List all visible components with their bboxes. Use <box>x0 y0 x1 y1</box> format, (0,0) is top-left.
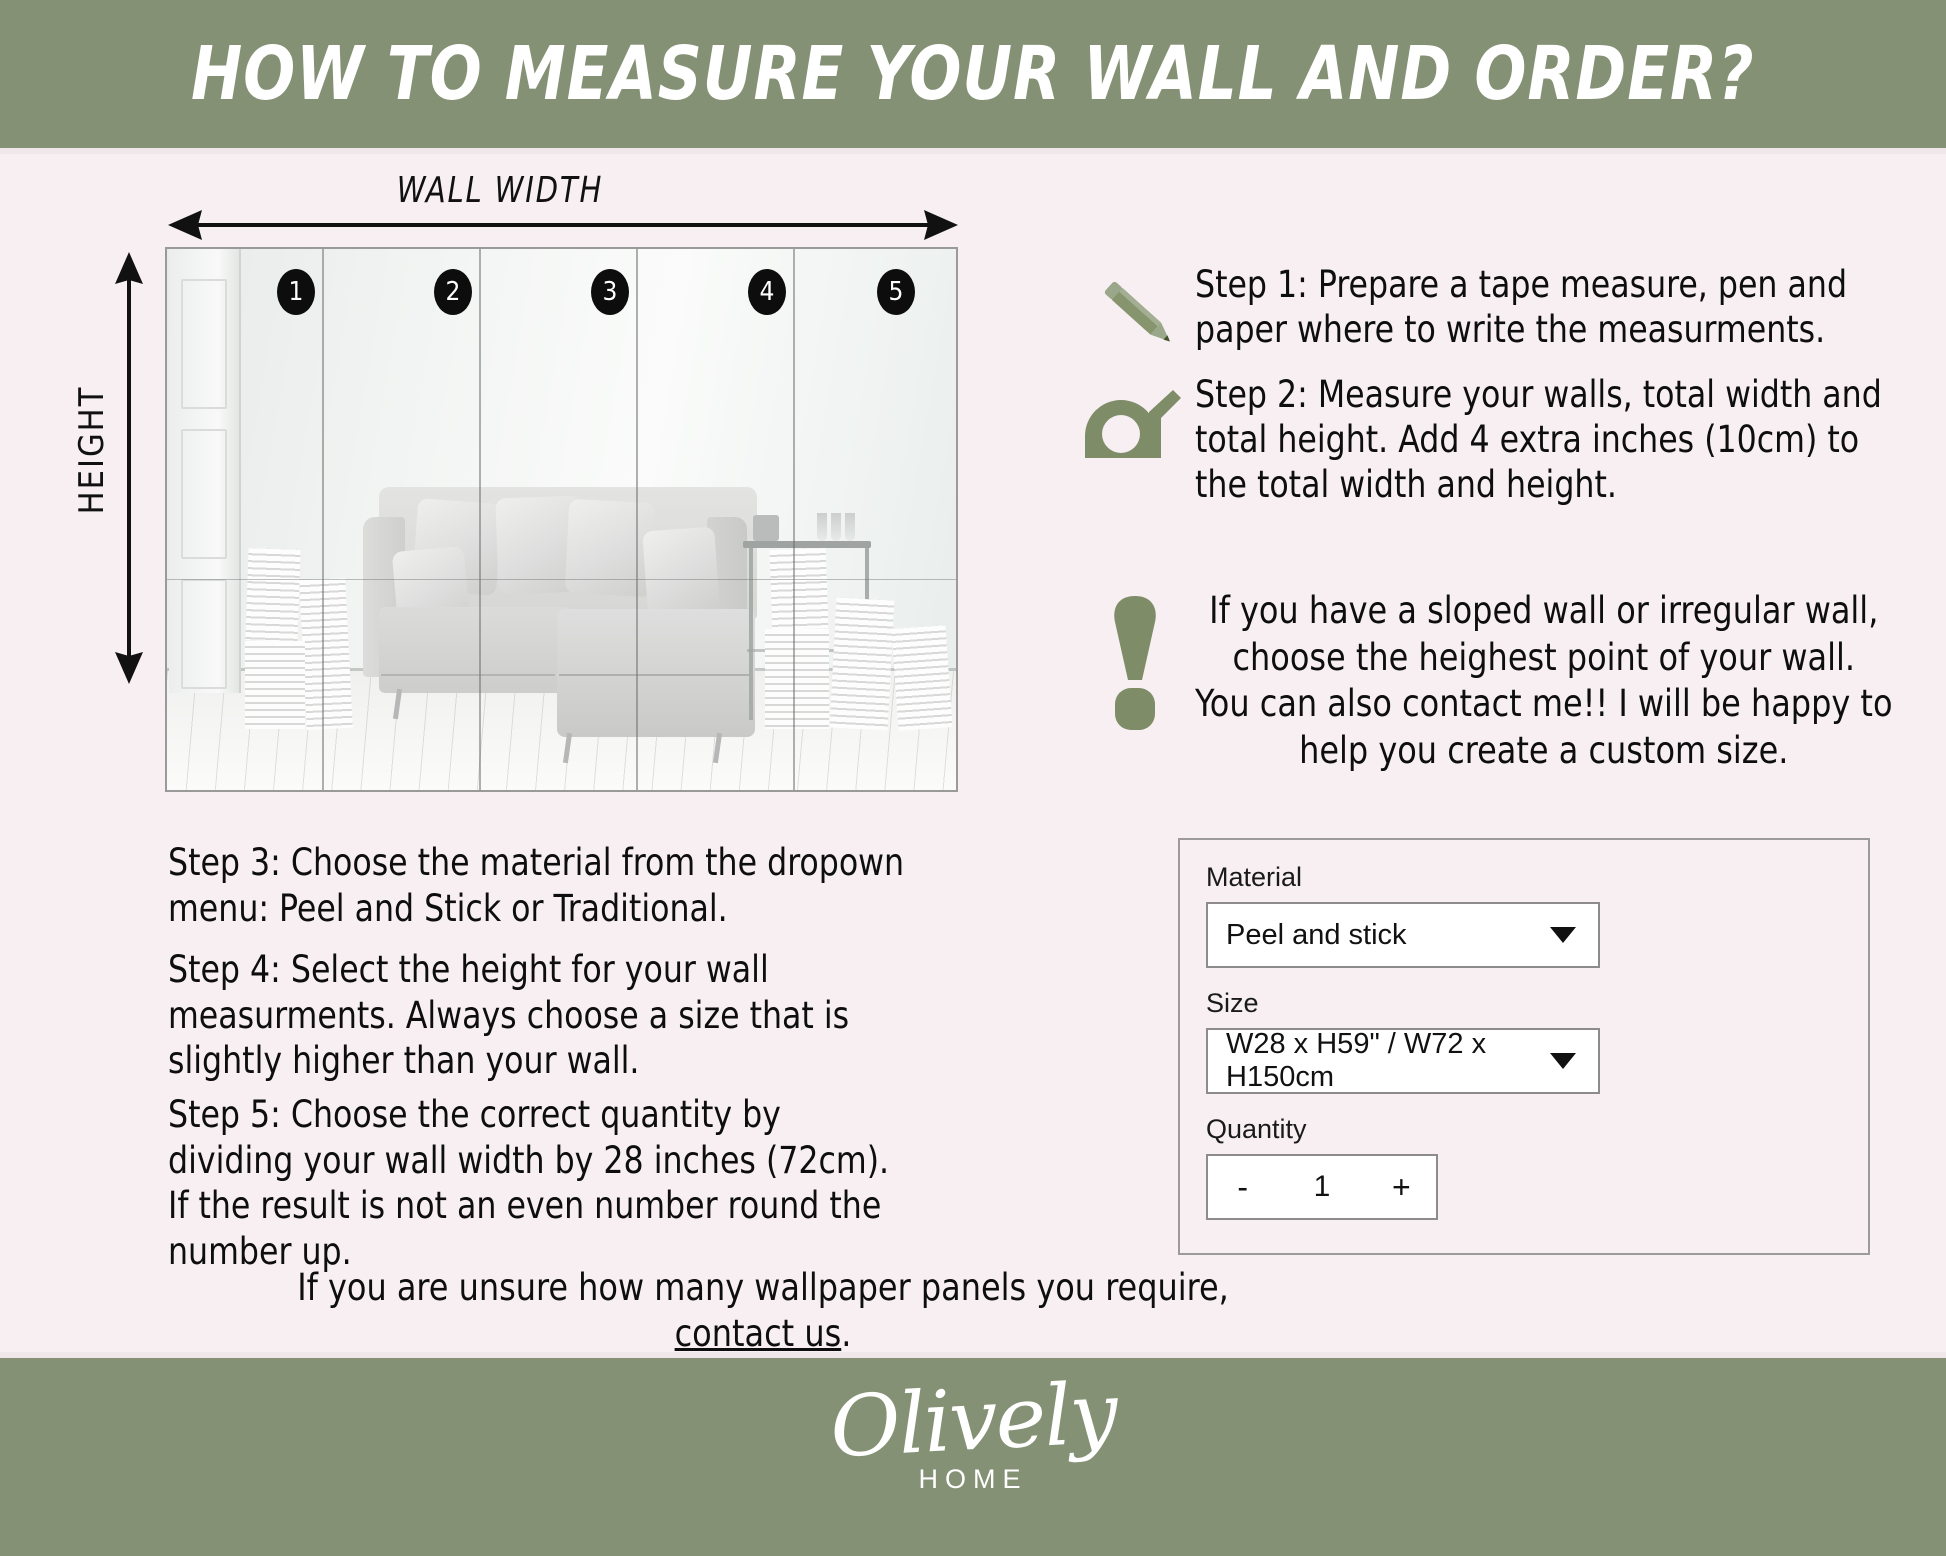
tape-measure-icon <box>1075 372 1195 480</box>
warning-row: If you have a sloped wall or irregular w… <box>1075 588 1946 774</box>
warning-line-1: If you have a sloped wall or irregular w… <box>1195 588 1893 635</box>
warning-line-4: help you create a custom size. <box>1195 728 1893 775</box>
double-arrow-vertical-icon <box>112 252 146 684</box>
header-divider <box>0 148 1946 154</box>
book-stack <box>770 548 829 630</box>
panel-number-badge: 4 <box>748 269 786 315</box>
door-panel <box>181 579 227 689</box>
step-5-text: Step 5: Choose the correct quantity by d… <box>168 1092 909 1274</box>
brand-logo: Olively HOME <box>0 1378 1946 1495</box>
door-molding <box>169 249 241 693</box>
panel-number-badge: 3 <box>591 269 629 315</box>
double-arrow-horizontal-icon <box>168 208 958 242</box>
contact-period: . <box>841 1312 851 1355</box>
warning-text: If you have a sloped wall or irregular w… <box>1195 588 1893 774</box>
panel-divider <box>322 249 324 790</box>
step-2-text: Step 2: Measure your walls, total width … <box>1195 372 1917 507</box>
spacer <box>1206 1094 1842 1114</box>
throw-pillow <box>642 527 720 614</box>
material-select[interactable]: Peel and stick <box>1206 902 1600 968</box>
wall-preview-image: 1 2 3 4 5 <box>165 247 958 792</box>
quantity-decrement-button[interactable]: - <box>1208 1169 1277 1206</box>
door-panel <box>181 429 227 559</box>
wine-glass <box>831 513 841 541</box>
warning-line-2: choose the heighest point of your wall. <box>1195 635 1893 682</box>
infographic-page: HOW TO MEASURE YOUR WALL AND ORDER? WALL… <box>0 0 1946 1556</box>
contact-us-link[interactable]: contact us <box>675 1312 842 1355</box>
chevron-down-icon <box>1550 1053 1576 1069</box>
book-stack <box>892 625 953 731</box>
decor-box <box>753 515 779 541</box>
console-leg <box>749 548 753 720</box>
book-stack <box>245 548 300 642</box>
header-banner: HOW TO MEASURE YOUR WALL AND ORDER? <box>0 0 1946 148</box>
material-selected-value: Peel and stick <box>1226 919 1407 952</box>
panel-divider <box>479 249 481 790</box>
book-stack <box>830 598 895 731</box>
quantity-label: Quantity <box>1206 1114 1842 1145</box>
wall-height-label: HEIGHT <box>72 350 112 550</box>
book-stack <box>765 629 829 729</box>
quantity-increment-button[interactable]: + <box>1367 1169 1436 1206</box>
panel-divider <box>636 249 638 790</box>
panel-horizontal-divider <box>167 579 956 580</box>
wall-width-label: WALL WIDTH <box>347 170 653 211</box>
panel-number-badge: 2 <box>434 269 472 315</box>
contact-block: If you are unsure how many wallpaper pan… <box>197 1265 1330 1357</box>
size-select[interactable]: W28 x H59" / W72 x H150cm <box>1206 1028 1600 1094</box>
page-title: HOW TO MEASURE YOUR WALL AND ORDER? <box>191 31 1755 117</box>
contact-line: If you are unsure how many wallpaper pan… <box>297 1266 1229 1309</box>
room-scene: 1 2 3 4 5 <box>167 249 956 790</box>
step-1-text: Step 1: Prepare a tape measure, pen and … <box>1195 262 1898 352</box>
panel-divider <box>793 249 795 790</box>
sofa-seat <box>379 607 571 693</box>
throw-pillow <box>565 499 656 597</box>
size-label: Size <box>1206 988 1842 1019</box>
book-stack <box>245 641 305 729</box>
wine-glass <box>817 513 827 541</box>
material-label: Material <box>1206 862 1842 893</box>
wine-glass <box>845 513 855 541</box>
sofa-chaise <box>557 609 755 737</box>
sofa-seam <box>381 674 555 676</box>
warning-line-3: You can also contact me!! I will be happ… <box>1195 681 1893 728</box>
step-3-text: Step 3: Choose the material from the dro… <box>168 840 909 931</box>
pencil-icon <box>1075 262 1195 358</box>
chevron-down-icon <box>1550 927 1576 943</box>
quantity-value[interactable]: 1 <box>1277 1170 1366 1204</box>
panel-number-badge: 1 <box>277 269 315 315</box>
step-1-row: Step 1: Prepare a tape measure, pen and … <box>1075 262 1935 358</box>
book-stack <box>299 578 353 730</box>
quantity-stepper[interactable]: - 1 + <box>1206 1154 1438 1220</box>
console-table-top <box>743 541 871 548</box>
panel-number-badge: 5 <box>877 269 915 315</box>
step-2-row: Step 2: Measure your walls, total width … <box>1075 372 1946 507</box>
exclamation-icon <box>1075 588 1195 738</box>
step-4-text: Step 4: Select the height for your wall … <box>168 947 909 1084</box>
size-selected-value: W28 x H59" / W72 x H150cm <box>1226 1028 1598 1094</box>
spacer <box>1206 968 1842 988</box>
chaise-seam <box>559 674 753 676</box>
door-panel <box>181 279 227 409</box>
order-form-panel: Material Peel and stick Size W28 x H59" … <box>1178 838 1870 1255</box>
